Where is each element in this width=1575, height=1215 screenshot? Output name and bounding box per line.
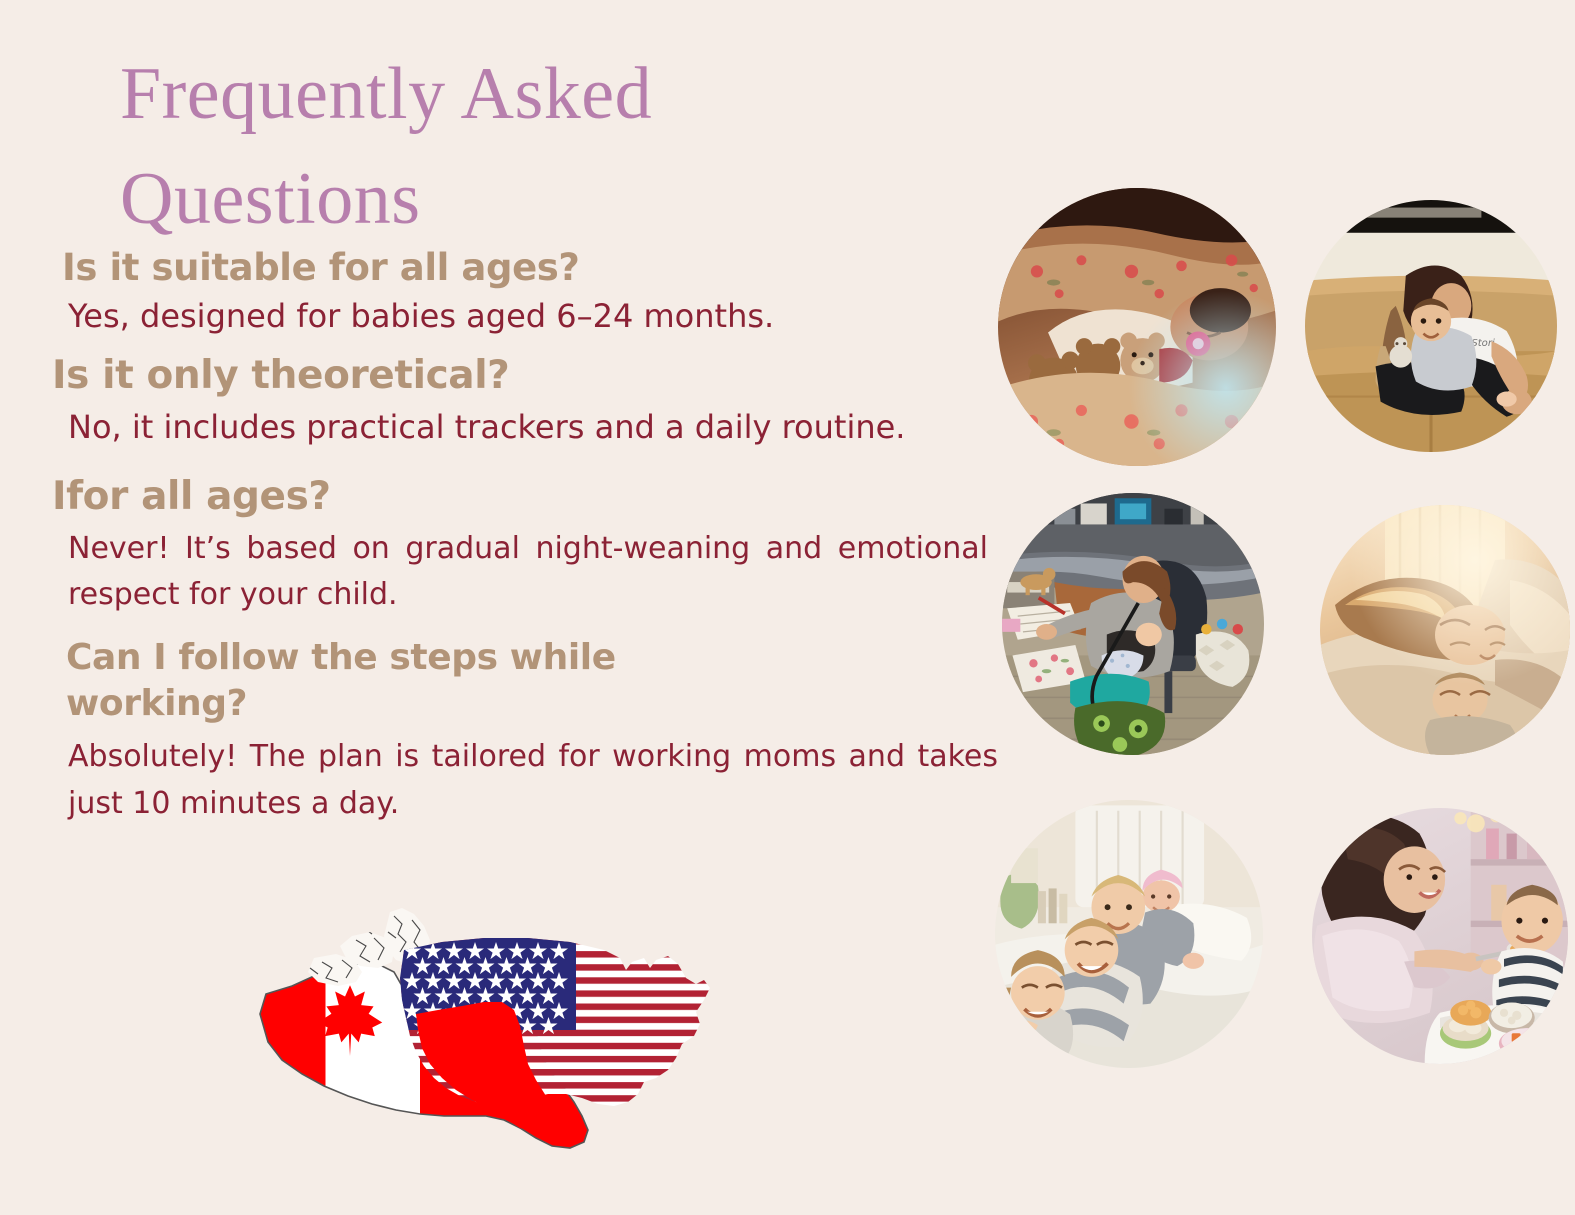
photo-children-and-baby-in-bed: [995, 800, 1263, 1068]
photo-working-mom-at-desk-with-baby: [1002, 493, 1264, 755]
faq-item-0: Is it suitable for all ages? Yes, design…: [48, 248, 1008, 343]
faq-question-0: Is it suitable for all ages?: [48, 248, 1008, 287]
faq-answer-1: No, it includes practical trackers and a…: [48, 402, 958, 454]
faq-answer-3: Absolutely! The plan is tailored for wor…: [48, 734, 998, 827]
page-title: Frequently Asked Questions: [120, 42, 800, 252]
faq-item-2: Ifor all ages? Never! It’s based on grad…: [48, 476, 1008, 618]
faq-question-2: Ifor all ages?: [48, 476, 1008, 517]
svg-text:Stori: Stori: [1471, 338, 1495, 349]
faq-question-1: Is it only theoretical?: [48, 355, 1008, 396]
faq-list: Is it suitable for all ages? Yes, design…: [48, 248, 1008, 829]
faq-answer-2: Never! It’s based on gradual night-weani…: [48, 526, 988, 619]
faq-question-3: Can I follow the steps while working?: [48, 635, 688, 729]
faq-item-1: Is it only theoretical? No, it includes …: [48, 355, 1008, 454]
photo-baby-sleeping-with-teddy-bears: [998, 188, 1276, 466]
photo-mother-and-child-sleeping: [1320, 505, 1570, 755]
canada-usa-flag-map-icon: [252, 902, 764, 1194]
photo-mother-feeding-baby: [1312, 808, 1568, 1064]
page-title-line-1: Frequently Asked: [120, 42, 800, 147]
page-title-line-2: Questions: [120, 147, 800, 252]
faq-answer-0: Yes, designed for babies aged 6–24 month…: [48, 291, 848, 343]
photo-mother-holding-toddler-on-couch: Stori: [1305, 200, 1557, 452]
faq-item-3: Can I follow the steps while working? Ab…: [48, 635, 1008, 828]
